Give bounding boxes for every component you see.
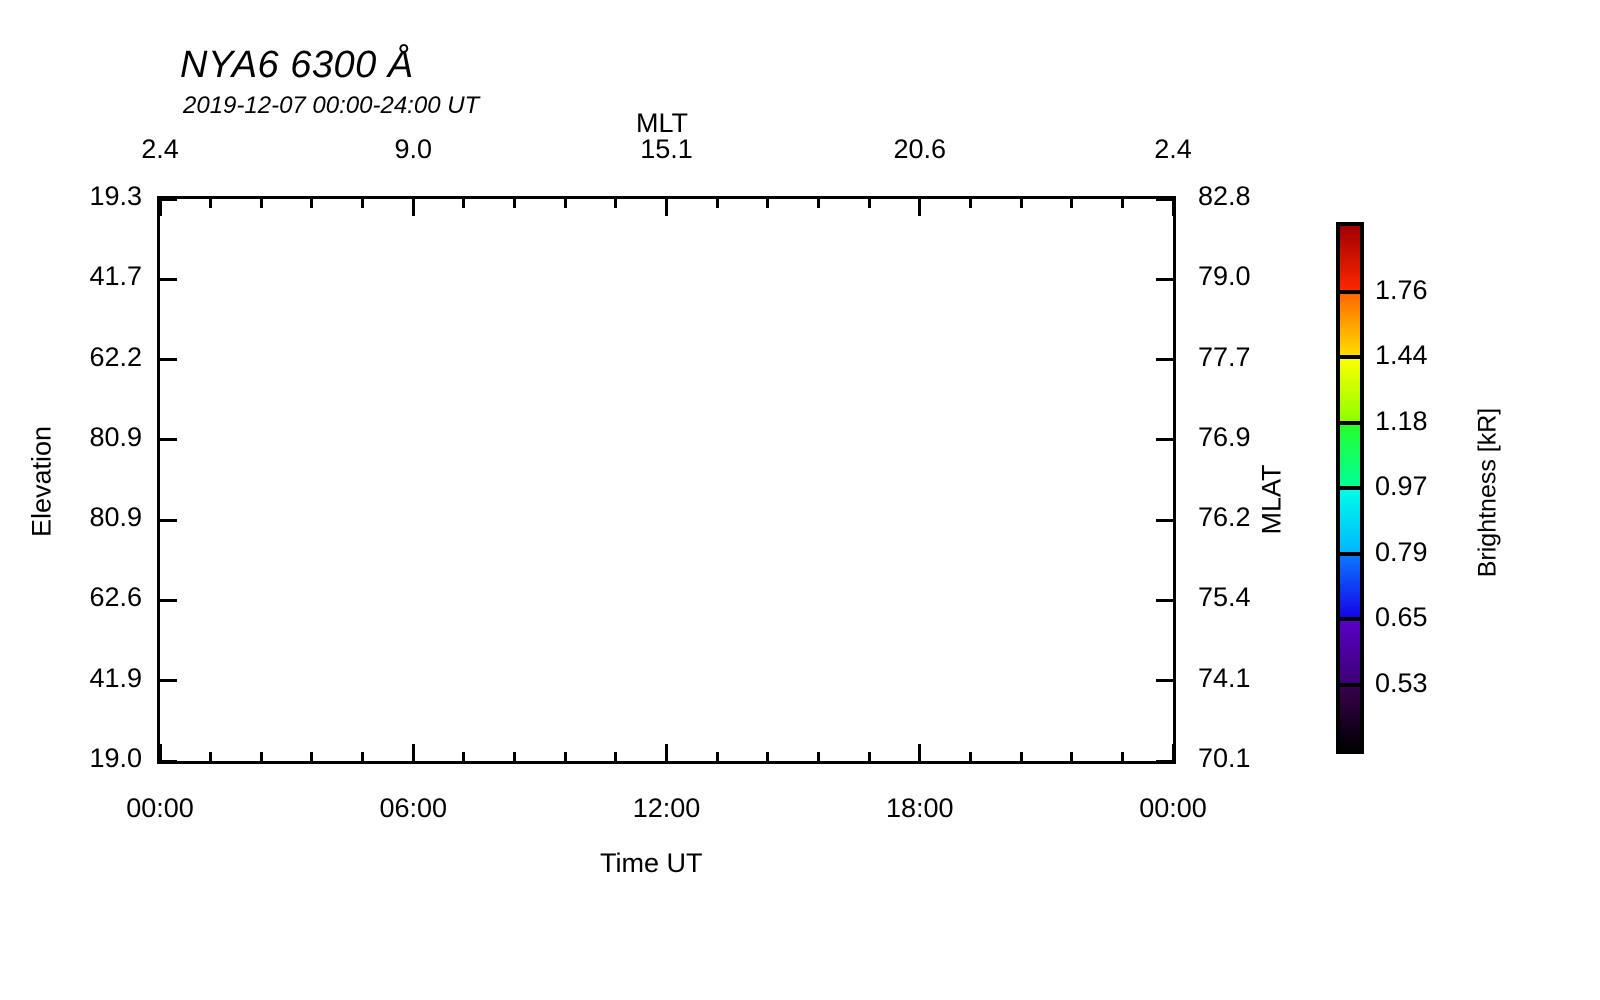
bottom-tick-label: 18:00 <box>860 793 980 824</box>
top-major-tick <box>412 199 415 216</box>
bottom-minor-tick <box>817 752 820 761</box>
left-major-tick <box>160 198 177 201</box>
top-tick-label: 20.6 <box>890 134 950 165</box>
top-minor-tick <box>209 199 212 208</box>
bottom-major-tick <box>159 744 162 761</box>
colorbar-tick-label: 1.18 <box>1375 406 1428 437</box>
top-minor-tick <box>614 199 617 208</box>
colorbar-segment <box>1340 619 1360 685</box>
right-major-tick <box>1156 358 1173 361</box>
colorbar-separator <box>1340 355 1360 359</box>
bottom-minor-tick <box>1070 752 1073 761</box>
left-major-tick <box>160 599 177 602</box>
left-major-tick <box>160 519 177 522</box>
left-major-tick <box>160 278 177 281</box>
top-major-tick <box>665 199 668 216</box>
top-minor-tick <box>310 199 313 208</box>
page-title: NYA6 6300 Å <box>180 44 414 87</box>
bottom-major-tick <box>665 744 668 761</box>
colorbar-segment <box>1340 554 1360 620</box>
top-minor-tick <box>260 199 263 208</box>
bottom-major-tick <box>412 744 415 761</box>
top-major-tick <box>159 199 162 216</box>
colorbar-tick-label: 0.53 <box>1375 668 1428 699</box>
left-axis-title: Elevation <box>27 402 58 562</box>
right-major-tick <box>1156 438 1173 441</box>
right-major-tick <box>1156 278 1173 281</box>
colorbar-tick-label: 0.65 <box>1375 602 1428 633</box>
left-tick-label: 41.9 <box>60 663 142 694</box>
plot-frame <box>157 196 1176 764</box>
top-minor-tick <box>462 199 465 208</box>
colorbar-segment <box>1340 423 1360 489</box>
bottom-minor-tick <box>260 752 263 761</box>
right-tick-label: 82.8 <box>1198 181 1288 212</box>
left-major-tick <box>160 679 177 682</box>
page-subtitle: 2019-12-07 00:00-24:00 UT <box>183 92 479 120</box>
bottom-major-tick <box>918 744 921 761</box>
left-major-tick <box>160 438 177 441</box>
top-tick-label: 9.0 <box>383 134 443 165</box>
top-minor-tick <box>817 199 820 208</box>
colorbar-segment <box>1340 685 1360 751</box>
colorbar-separator <box>1340 421 1360 425</box>
bottom-minor-tick <box>513 752 516 761</box>
colorbar-separator <box>1340 486 1360 490</box>
top-minor-tick <box>766 199 769 208</box>
left-major-tick <box>160 358 177 361</box>
top-minor-tick <box>513 199 516 208</box>
colorbar-segment <box>1340 357 1360 423</box>
bottom-minor-tick <box>361 752 364 761</box>
right-tick-label: 74.1 <box>1198 663 1288 694</box>
top-minor-tick <box>1070 199 1073 208</box>
bottom-major-tick <box>1172 744 1175 761</box>
top-minor-tick <box>868 199 871 208</box>
bottom-minor-tick <box>310 752 313 761</box>
right-tick-label: 75.4 <box>1198 582 1288 613</box>
bottom-tick-label: 00:00 <box>1113 793 1233 824</box>
top-minor-tick <box>361 199 364 208</box>
colorbar-tick-label: 1.76 <box>1375 275 1428 306</box>
left-major-tick <box>160 760 177 763</box>
bottom-minor-tick <box>564 752 567 761</box>
colorbar-separator <box>1340 552 1360 556</box>
colorbar-separator <box>1340 617 1360 621</box>
right-major-tick <box>1156 198 1173 201</box>
top-tick-label: 2.4 <box>1143 134 1203 165</box>
right-tick-label: 70.1 <box>1198 743 1288 774</box>
bottom-tick-label: 12:00 <box>607 793 727 824</box>
colorbar-title: Brightness [kR] <box>1474 363 1503 623</box>
left-tick-label: 80.9 <box>60 422 142 453</box>
bottom-minor-tick <box>969 752 972 761</box>
bottom-minor-tick <box>868 752 871 761</box>
colorbar-segment <box>1340 226 1360 292</box>
bottom-minor-tick <box>716 752 719 761</box>
top-tick-label: 2.4 <box>130 134 190 165</box>
top-minor-tick <box>1121 199 1124 208</box>
top-minor-tick <box>1020 199 1023 208</box>
right-major-tick <box>1156 679 1173 682</box>
top-major-tick <box>918 199 921 216</box>
left-tick-label: 19.0 <box>60 743 142 774</box>
colorbar-segment <box>1340 488 1360 554</box>
top-tick-label: 15.1 <box>637 134 697 165</box>
right-tick-label: 76.2 <box>1198 502 1288 533</box>
right-tick-label: 79.0 <box>1198 261 1288 292</box>
top-minor-tick <box>716 199 719 208</box>
right-tick-label: 76.9 <box>1198 422 1288 453</box>
right-major-tick <box>1156 519 1173 522</box>
bottom-minor-tick <box>766 752 769 761</box>
colorbar-segment <box>1340 292 1360 358</box>
colorbar-separator <box>1340 683 1360 687</box>
right-major-tick <box>1156 599 1173 602</box>
bottom-minor-tick <box>462 752 465 761</box>
bottom-minor-tick <box>1020 752 1023 761</box>
bottom-minor-tick <box>1121 752 1124 761</box>
top-major-tick <box>1172 199 1175 216</box>
top-minor-tick <box>969 199 972 208</box>
left-tick-label: 19.3 <box>60 181 142 212</box>
left-tick-label: 62.2 <box>60 342 142 373</box>
bottom-axis-title: Time UT <box>600 848 703 879</box>
colorbar-tick-label: 0.79 <box>1375 537 1428 568</box>
colorbar-separator <box>1340 290 1360 294</box>
top-minor-tick <box>564 199 567 208</box>
bottom-tick-label: 06:00 <box>353 793 473 824</box>
bottom-minor-tick <box>614 752 617 761</box>
colorbar-tick-label: 0.97 <box>1375 471 1428 502</box>
left-tick-label: 41.7 <box>60 261 142 292</box>
left-tick-label: 80.9 <box>60 502 142 533</box>
right-major-tick <box>1156 760 1173 763</box>
colorbar-tick-label: 1.44 <box>1375 340 1428 371</box>
left-tick-label: 62.6 <box>60 582 142 613</box>
bottom-minor-tick <box>209 752 212 761</box>
bottom-tick-label: 00:00 <box>100 793 220 824</box>
right-tick-label: 77.7 <box>1198 342 1288 373</box>
